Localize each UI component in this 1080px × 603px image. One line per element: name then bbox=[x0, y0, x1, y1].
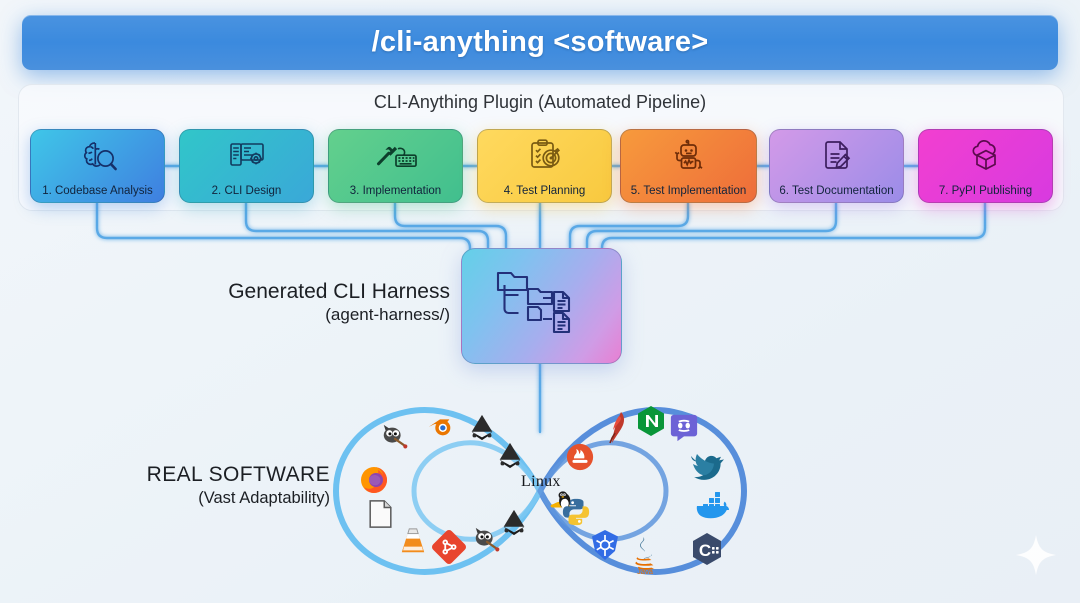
java-icon: Java bbox=[628, 535, 662, 575]
brain-magnifier-icon bbox=[31, 137, 164, 177]
document-pencil-icon bbox=[770, 137, 903, 177]
pipeline-card-label: 5. Test Implementation bbox=[631, 185, 747, 197]
pipeline-card-3[interactable]: 3. Implementation bbox=[328, 129, 463, 203]
clipboard-target-icon bbox=[478, 137, 611, 177]
real-software-title: REAL SOFTWARE bbox=[90, 462, 330, 487]
real-software-label: REAL SOFTWARE (Vast Adaptability) bbox=[90, 462, 330, 510]
docker-icon bbox=[694, 489, 736, 523]
blender-icon bbox=[423, 408, 457, 442]
file-tree-icon bbox=[488, 263, 596, 349]
pipeline-card-5[interactable]: 5. Test Implementation bbox=[620, 129, 757, 203]
pipeline-card-1[interactable]: 1. Codebase Analysis bbox=[30, 129, 165, 203]
vlc-icon bbox=[396, 524, 430, 558]
generated-cli-harness-node[interactable] bbox=[461, 248, 622, 364]
gitkraken-icon bbox=[432, 530, 466, 564]
inkscape-icon bbox=[493, 438, 527, 472]
cloud-package-icon bbox=[919, 137, 1052, 177]
pipeline-card-2[interactable]: 2. CLI Design bbox=[179, 129, 314, 203]
kubernetes-icon bbox=[588, 528, 622, 562]
libreoffice-icon bbox=[363, 497, 397, 531]
twitter-bird-icon bbox=[688, 447, 728, 487]
page-title: /cli-anything <software> bbox=[372, 26, 709, 59]
pipeline-card-label: 6. Test Documentation bbox=[779, 185, 893, 197]
svg-text:C: C bbox=[699, 541, 711, 560]
pipeline-card-label: 4. Test Planning bbox=[504, 185, 586, 197]
svg-text:Java: Java bbox=[637, 567, 654, 576]
diagram-canvas: /cli-anything <software> CLI-Anything Pl… bbox=[0, 0, 1080, 603]
pipeline-card-6[interactable]: 6. Test Documentation bbox=[769, 129, 904, 203]
pipeline-card-label: 1. Codebase Analysis bbox=[42, 185, 153, 197]
sparkle-icon bbox=[1014, 533, 1058, 577]
real-software-subtitle: (Vast Adaptability) bbox=[90, 487, 330, 510]
page-title-banner: /cli-anything <software> bbox=[22, 15, 1058, 70]
harness-label: Generated CLI Harness (agent-harness/) bbox=[180, 280, 450, 327]
nginx-icon bbox=[634, 404, 668, 438]
firefox-icon bbox=[357, 463, 391, 497]
inkscape-icon bbox=[497, 505, 531, 539]
gimp-icon bbox=[378, 420, 412, 454]
harness-title: Generated CLI Harness bbox=[180, 280, 450, 304]
robot-icon bbox=[621, 137, 756, 177]
pipeline-card-7[interactable]: 7. PyPI Publishing bbox=[918, 129, 1053, 203]
harness-subtitle: (agent-harness/) bbox=[180, 304, 450, 327]
csharp-icon: C bbox=[690, 532, 724, 566]
plugin-panel-heading: CLI-Anything Plugin (Automated Pipeline) bbox=[0, 92, 1080, 113]
apache-icon bbox=[600, 411, 634, 445]
prometheus-icon bbox=[563, 440, 597, 474]
pipeline-card-label: 2. CLI Design bbox=[212, 185, 282, 197]
pipeline-card-label: 7. PyPI Publishing bbox=[939, 185, 1032, 197]
pipeline-card-label: 3. Implementation bbox=[350, 185, 441, 197]
hammer-keyboard-icon bbox=[329, 137, 462, 177]
python-icon bbox=[559, 495, 593, 529]
pipeline-card-4[interactable]: 4. Test Planning bbox=[477, 129, 612, 203]
discord-icon bbox=[667, 410, 701, 444]
blueprint-gear-icon bbox=[180, 137, 313, 177]
